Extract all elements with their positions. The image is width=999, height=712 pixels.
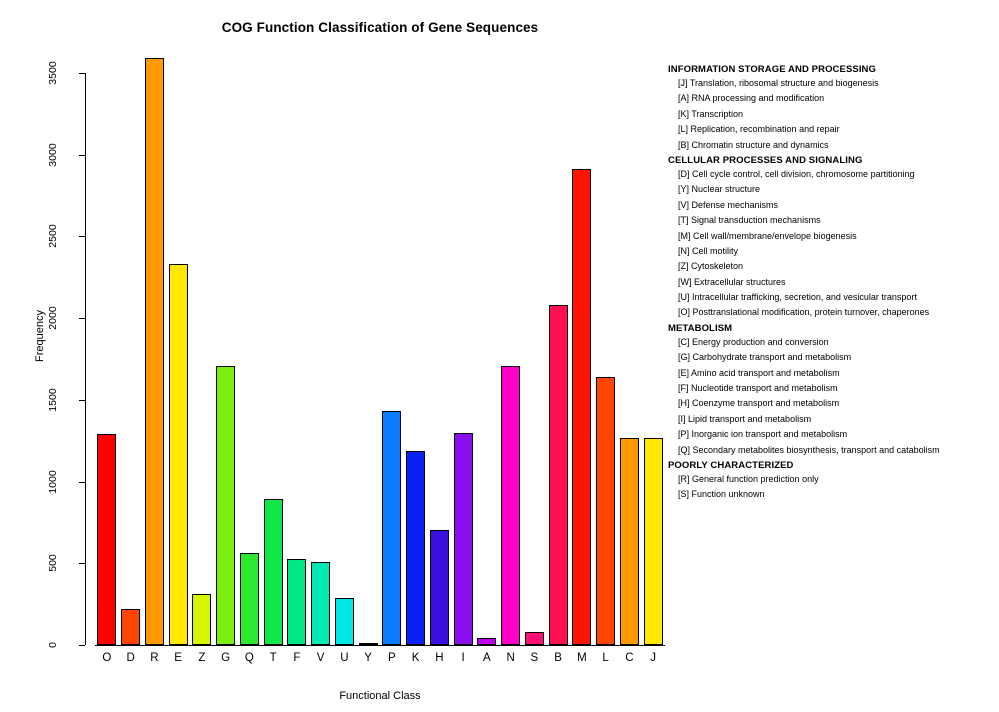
bar-K <box>406 451 425 645</box>
bar-V <box>311 562 330 645</box>
y-axis-tick-label: 3500 <box>32 66 74 80</box>
legend-item: [Z] Cytoskeleton <box>678 261 993 272</box>
legend-item: [R] General function prediction only <box>678 474 993 485</box>
legend-item: [E] Amino acid transport and metabolism <box>678 368 993 379</box>
legend-item: [B] Chromatin structure and dynamics <box>678 140 993 151</box>
x-tick-label-J: J <box>641 652 665 664</box>
bar-F <box>287 559 306 645</box>
x-tick-label-N: N <box>499 652 523 664</box>
x-tick-label-Q: Q <box>238 652 262 664</box>
x-tick-label-I: I <box>451 652 475 664</box>
page-title: COG Function Classification of Gene Sequ… <box>0 20 760 35</box>
legend-item: [U] Intracellular trafficking, secretion… <box>678 292 993 303</box>
legend-item: [I] Lipid transport and metabolism <box>678 414 993 425</box>
legend-item: [W] Extracellular structures <box>678 277 993 288</box>
x-tick-label-Z: Z <box>190 652 214 664</box>
legend: INFORMATION STORAGE AND PROCESSING[J] Tr… <box>668 64 993 505</box>
x-tick-label-A: A <box>475 652 499 664</box>
x-tick-label-M: M <box>570 652 594 664</box>
legend-heading: METABOLISM <box>668 323 993 334</box>
y-axis-tick-label: 1000 <box>32 475 74 489</box>
legend-heading: CELLULAR PROCESSES AND SIGNALING <box>668 155 993 166</box>
x-tick-label-R: R <box>143 652 167 664</box>
y-axis-tick <box>79 563 85 564</box>
y-axis-tick <box>79 318 85 319</box>
bar-R <box>145 58 164 645</box>
bar-J <box>644 438 663 645</box>
x-tick-label-F: F <box>285 652 309 664</box>
bar-I <box>454 433 473 645</box>
bar-E <box>169 264 188 645</box>
legend-item: [J] Translation, ribosomal structure and… <box>678 78 993 89</box>
bar-U <box>335 598 354 645</box>
y-axis-line <box>85 73 86 645</box>
x-tick-label-D: D <box>119 652 143 664</box>
bar-A <box>477 638 496 645</box>
x-tick-label-L: L <box>594 652 618 664</box>
legend-group: CELLULAR PROCESSES AND SIGNALING[D] Cell… <box>668 155 993 319</box>
x-tick-label-H: H <box>428 652 452 664</box>
bar-T <box>264 499 283 645</box>
legend-item: [L] Replication, recombination and repai… <box>678 124 993 135</box>
bar-B <box>549 305 568 645</box>
x-tick-label-K: K <box>404 652 428 664</box>
bar-Q <box>240 553 259 645</box>
legend-item: [H] Coenzyme transport and metabolism <box>678 398 993 409</box>
x-tick-label-B: B <box>546 652 570 664</box>
legend-item: [D] Cell cycle control, cell division, c… <box>678 169 993 180</box>
x-axis-line <box>95 645 665 646</box>
bar-H <box>430 530 449 645</box>
legend-item: [G] Carbohydrate transport and metabolis… <box>678 352 993 363</box>
y-axis-tick-label: 500 <box>32 556 74 570</box>
bar-Y <box>359 643 378 645</box>
legend-group: POORLY CHARACTERIZED[R] General function… <box>668 460 993 500</box>
bar-S <box>525 632 544 645</box>
bar-M <box>572 169 591 645</box>
legend-item: [S] Function unknown <box>678 489 993 500</box>
legend-item: [F] Nucleotide transport and metabolism <box>678 383 993 394</box>
bar-C <box>620 438 639 645</box>
y-axis-label: Frequency <box>34 276 46 396</box>
legend-item: [A] RNA processing and modification <box>678 93 993 104</box>
legend-item: [N] Cell motility <box>678 246 993 257</box>
cog-chart-page: COG Function Classification of Gene Sequ… <box>0 0 999 712</box>
legend-group: METABOLISM[C] Energy production and conv… <box>668 323 993 456</box>
bar-Z <box>192 594 211 645</box>
x-tick-label-S: S <box>523 652 547 664</box>
y-axis-tick <box>79 400 85 401</box>
legend-item: [C] Energy production and conversion <box>678 337 993 348</box>
y-axis-tick-label: 3000 <box>32 148 74 162</box>
y-axis-tick <box>79 482 85 483</box>
legend-group: INFORMATION STORAGE AND PROCESSING[J] Tr… <box>668 64 993 151</box>
bar-D <box>121 609 140 645</box>
x-tick-label-U: U <box>333 652 357 664</box>
legend-item: [Q] Secondary metabolites biosynthesis, … <box>678 445 993 456</box>
y-axis-tick <box>79 645 85 646</box>
bar-O <box>97 434 116 645</box>
y-axis-tick <box>79 236 85 237</box>
x-tick-label-O: O <box>95 652 119 664</box>
legend-item: [P] Inorganic ion transport and metaboli… <box>678 429 993 440</box>
x-tick-label-V: V <box>309 652 333 664</box>
legend-item: [V] Defense mechanisms <box>678 200 993 211</box>
x-tick-label-P: P <box>380 652 404 664</box>
x-tick-label-Y: Y <box>356 652 380 664</box>
x-axis-label: Functional Class <box>95 690 665 702</box>
x-tick-label-C: C <box>618 652 642 664</box>
legend-heading: INFORMATION STORAGE AND PROCESSING <box>668 64 993 75</box>
x-tick-label-E: E <box>166 652 190 664</box>
legend-item: [K] Transcription <box>678 109 993 120</box>
bar-N <box>501 366 520 645</box>
y-axis-tick-label: 0 <box>32 638 74 652</box>
x-tick-label-T: T <box>261 652 285 664</box>
legend-item: [T] Signal transduction mechanisms <box>678 215 993 226</box>
bar-L <box>596 377 615 645</box>
x-tick-label-G: G <box>214 652 238 664</box>
legend-item: [Y] Nuclear structure <box>678 184 993 195</box>
bar-G <box>216 366 235 645</box>
y-axis-tick <box>79 155 85 156</box>
legend-heading: POORLY CHARACTERIZED <box>668 460 993 471</box>
plot-area <box>95 73 665 645</box>
y-axis-tick-label: 2500 <box>32 229 74 243</box>
bar-P <box>382 411 401 645</box>
y-axis-tick <box>79 73 85 74</box>
legend-item: [M] Cell wall/membrane/envelope biogenes… <box>678 231 993 242</box>
legend-item: [O] Posttranslational modification, prot… <box>678 307 993 318</box>
